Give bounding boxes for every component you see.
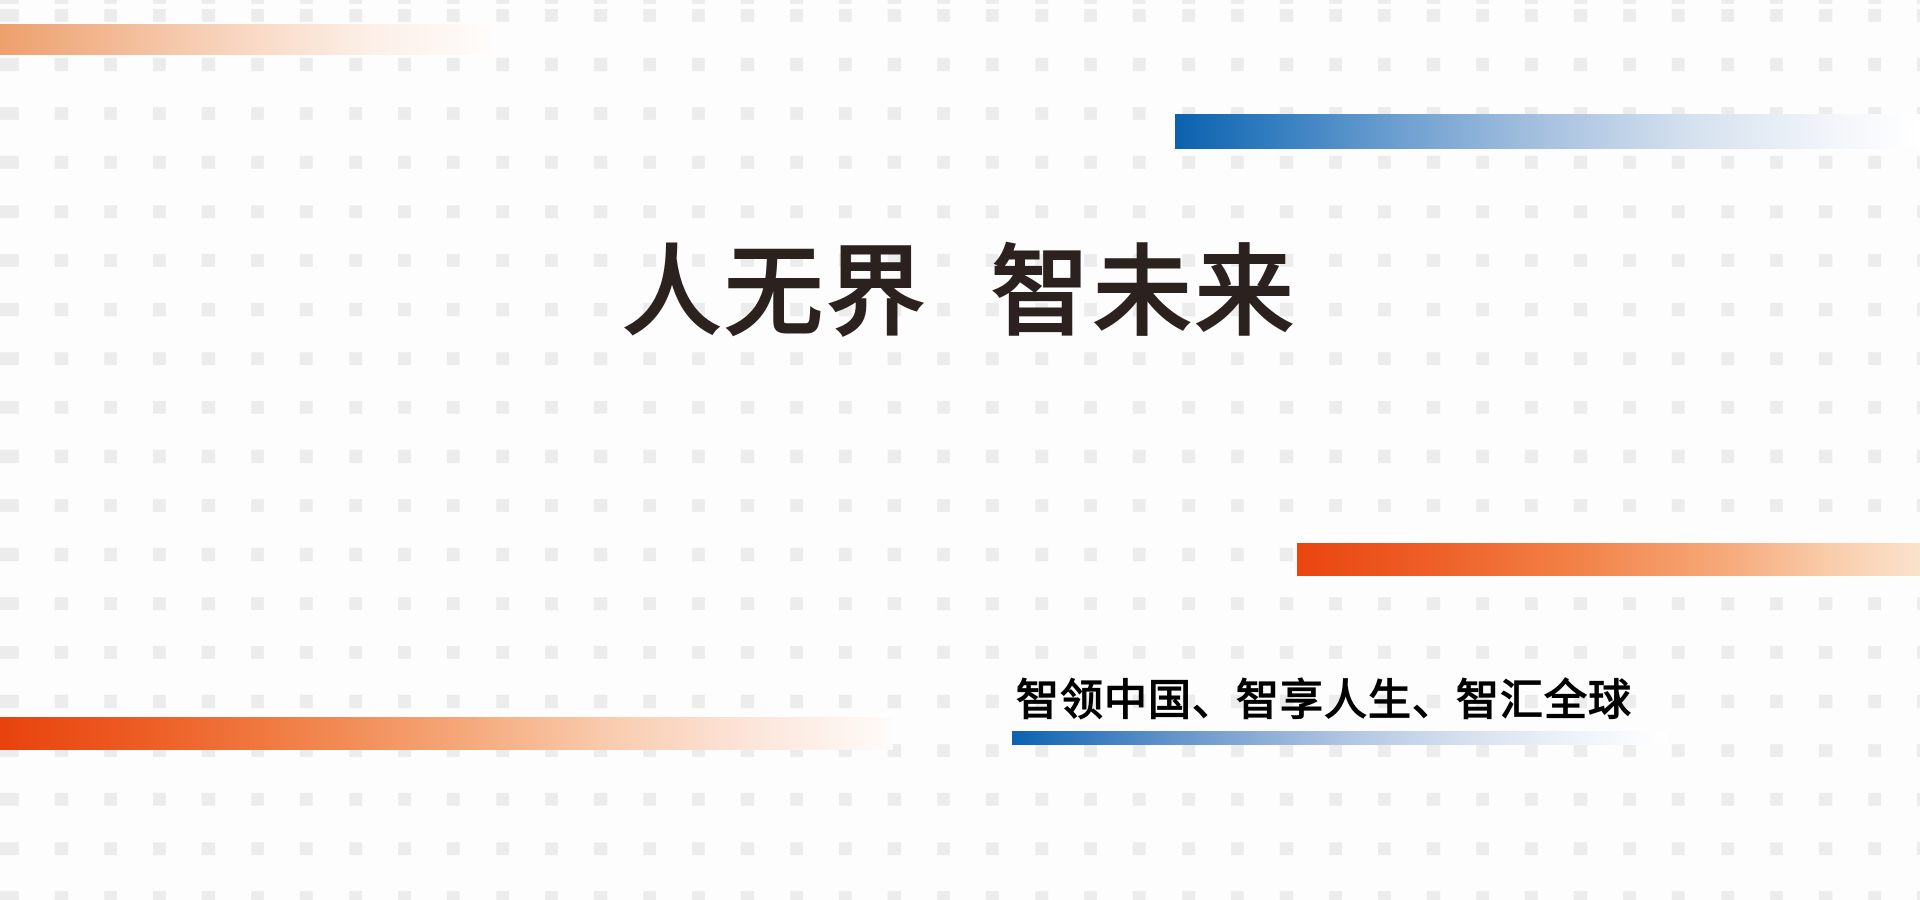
presentation-slide: 人无界 智未来 智领中国、智享人生、智汇全球 [0, 0, 1920, 900]
subtitle-gradient-underline [1012, 731, 1668, 745]
slide-subtitle: 智领中国、智享人生、智汇全球 [1012, 676, 1672, 727]
decor-bar-top-right-blue [1175, 114, 1920, 149]
decor-bar-mid-right-orange [1297, 543, 1920, 576]
decor-bar-bottom-left-orange [0, 717, 893, 750]
square-dot-pattern-background [0, 0, 1920, 900]
slide-subtitle-block: 智领中国、智享人生、智汇全球 [1012, 676, 1672, 745]
slide-title: 人无界 智未来 [0, 238, 1920, 348]
decor-bar-top-left-orange [0, 24, 492, 55]
